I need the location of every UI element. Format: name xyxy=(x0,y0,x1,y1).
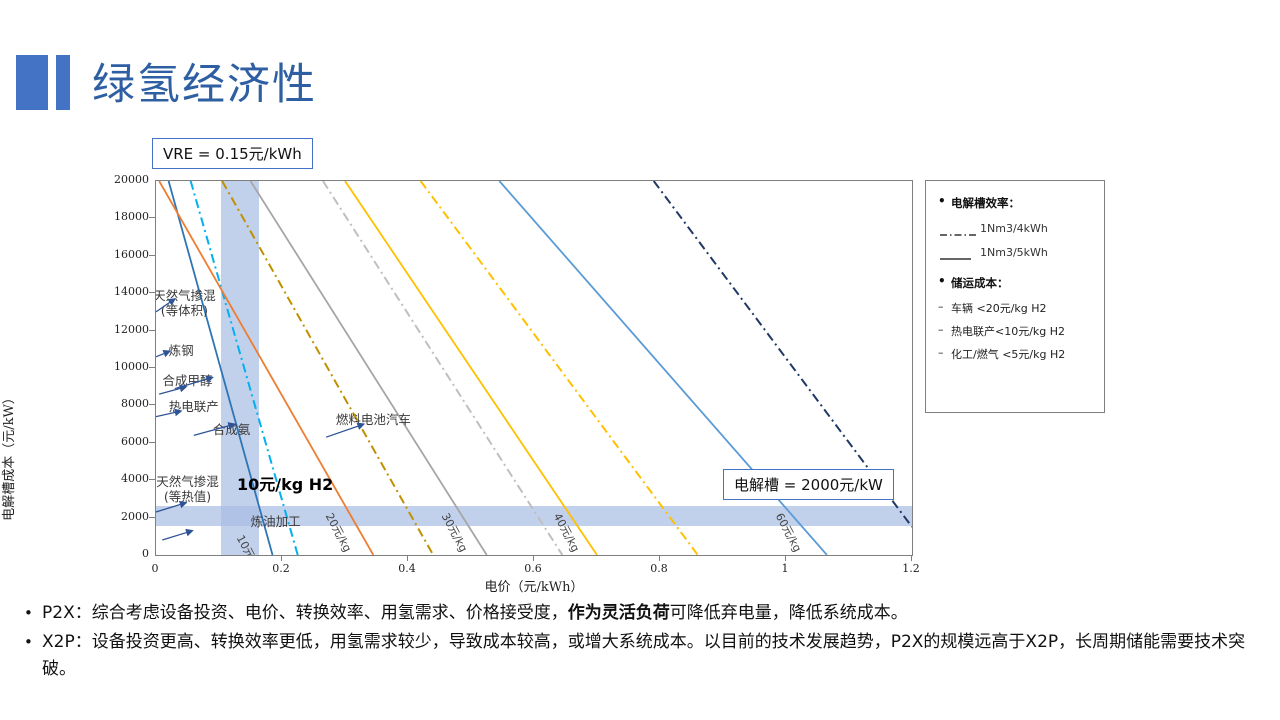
y-tick-label: 8000 xyxy=(121,397,149,410)
annotation-label: 热电联产 xyxy=(169,399,219,414)
vre-callout: VRE = 0.15元/kWh xyxy=(152,138,313,169)
x-tick-label: 0 xyxy=(152,562,159,575)
x-tick-label: 1.2 xyxy=(902,562,920,575)
legend-item-chp-label: 热电联产<10元/kg H2 xyxy=(951,323,1065,339)
annotation-label: 燃料电池汽车 xyxy=(336,412,411,427)
chart-legend: • 电解槽效率： 1Nm3/4kWh 1Nm3/5kWh • 储运成本： xyxy=(925,180,1105,413)
curve-30--kg xyxy=(251,181,487,555)
legend-item-vehicle: – 车辆 <20元/kg H2 xyxy=(938,300,1092,316)
x-axis-title: 电价（元/kWh） xyxy=(155,576,913,595)
legend-label-5kwh: 1Nm3/5kWh xyxy=(980,246,1048,259)
legend-item-chp: – 热电联产<10元/kg H2 xyxy=(938,323,1092,339)
x-tick-label: 0.2 xyxy=(272,562,290,575)
annotation-label: 天然气掺混(等体积) xyxy=(155,288,216,318)
dash-icon: – xyxy=(938,300,951,316)
legend-label-4kwh: 1Nm3/4kWh xyxy=(980,222,1048,235)
dashdot-line-icon xyxy=(938,228,980,229)
bullet-x2p-text: X2P：设备投资更高、转换效率更低，用氢需求较少，导致成本较高，或增大系统成本。… xyxy=(42,629,1270,683)
dash-icon: – xyxy=(938,346,951,362)
legend-section-storage: • 储运成本： xyxy=(938,275,1092,291)
x-tick-label: 1 xyxy=(782,562,789,575)
chart-container: 电解槽成本（元/kW） 0200040006000800010000120001… xyxy=(0,0,1280,600)
conclusion-bullets: • P2X：综合考虑设备投资、电价、转换效率、用氢需求、价格接受度，作为灵活负荷… xyxy=(24,600,1270,685)
bullet-icon: • xyxy=(938,195,951,208)
bullet-p2x-emphasis: 作为灵活负荷 xyxy=(568,603,670,623)
annotation-label: 炼油加工 xyxy=(251,514,301,529)
bullet-icon: • xyxy=(24,600,42,627)
y-axis-title: 电解槽成本（元/kW） xyxy=(0,356,17,556)
curve-20--kg--4kWh- xyxy=(222,181,433,555)
bullet-p2x-tail: 可降低弃电量，降低系统成本。 xyxy=(670,603,908,623)
legend-row-5kwh: 1Nm3/5kWh xyxy=(938,246,1092,259)
y-tick-label: 16000 xyxy=(114,248,149,261)
legend-item-chemical: – 化工/燃气 <5元/kg H2 xyxy=(938,346,1092,362)
y-tick-label: 14000 xyxy=(114,285,149,298)
bullet-p2x-text: P2X：综合考虑设备投资、电价、转换效率、用氢需求、价格接受度，作为灵活负荷可降… xyxy=(42,600,1270,627)
y-tick-label: 10000 xyxy=(114,360,149,373)
y-tick-label: 12000 xyxy=(114,323,149,336)
legend-section-efficiency-title: 电解槽效率： xyxy=(951,195,1020,211)
y-tick-label: 2000 xyxy=(121,510,149,523)
x-tick-label: 0.4 xyxy=(398,562,416,575)
legend-row-4kwh: 1Nm3/4kWh xyxy=(938,222,1092,235)
y-tick-label: 4000 xyxy=(121,472,149,485)
curve-30--kg--4kWh- xyxy=(323,181,562,555)
bullet-x2p: • X2P：设备投资更高、转换效率更低，用氢需求较少，导致成本较高，或增大系统成… xyxy=(24,629,1270,683)
bullet-icon: • xyxy=(938,275,951,288)
annotation-label: 天然气掺混(等热值) xyxy=(156,474,219,504)
solid-line-icon xyxy=(938,252,980,253)
bullet-p2x: • P2X：综合考虑设备投资、电价、转换效率、用氢需求、价格接受度，作为灵活负荷… xyxy=(24,600,1270,627)
y-tick-label: 18000 xyxy=(114,210,149,223)
y-axis-ticks: 0200040006000800010000120001400016000180… xyxy=(95,180,149,556)
annotation-label: 合成氨 xyxy=(213,422,251,437)
annotation-label: 10元/kg H2 xyxy=(237,471,333,495)
y-tick-label: 6000 xyxy=(121,435,149,448)
x-tick-label: 0.6 xyxy=(524,562,542,575)
legend-item-vehicle-label: 车辆 <20元/kg H2 xyxy=(951,300,1047,316)
bullet-icon: • xyxy=(24,629,42,683)
legend-item-chemical-label: 化工/燃气 <5元/kg H2 xyxy=(951,346,1065,362)
x-tick-label: 0.8 xyxy=(650,562,668,575)
slide: 绿氢经济性 电解槽成本（元/kW） 0200040006000800010000… xyxy=(0,0,1280,720)
y-tick-label: 0 xyxy=(142,547,149,560)
dash-icon: – xyxy=(938,323,951,339)
annotation-label: 合成甲醇 xyxy=(162,373,212,388)
annotation-label: 炼钢 xyxy=(169,343,194,358)
electrolyzer-callout: 电解槽 = 2000元/kW xyxy=(723,469,894,500)
bullet-p2x-lead: P2X：综合考虑设备投资、电价、转换效率、用氢需求、价格接受度， xyxy=(42,603,568,623)
legend-section-efficiency: • 电解槽效率： xyxy=(938,195,1092,211)
y-tick-label: 20000 xyxy=(114,173,149,186)
legend-section-storage-title: 储运成本： xyxy=(951,275,1009,291)
